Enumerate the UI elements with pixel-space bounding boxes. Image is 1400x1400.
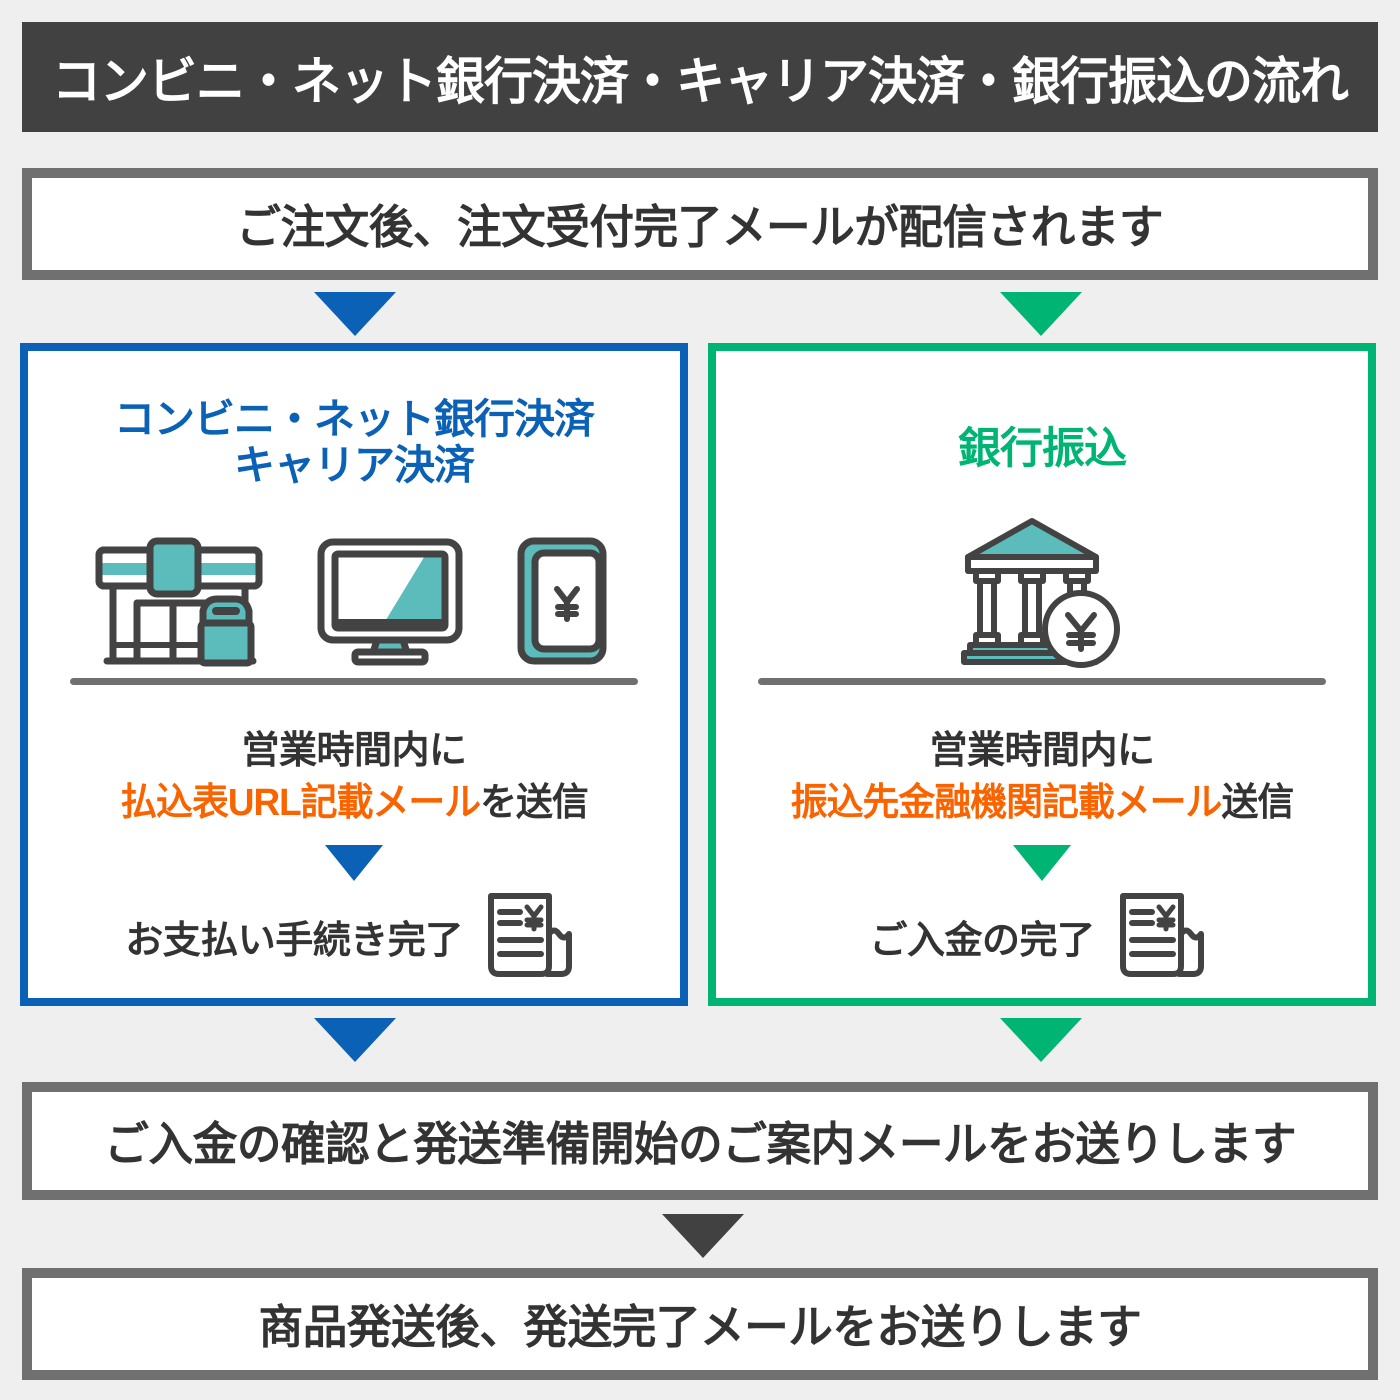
panel-bank-note-tail: 送信	[1221, 782, 1293, 824]
monitor-icon	[315, 536, 465, 666]
panel-cvs-note-line1: 営業時間内に	[28, 719, 680, 774]
panel-cvs-note-highlight: 払込表URL記載メール	[120, 782, 480, 824]
step-shipped-label: 商品発送後、発送完了メールをお送りします	[259, 1291, 1142, 1357]
panel-cvs-arrow-down-icon	[325, 845, 383, 881]
panel-bank-icon-row	[716, 511, 1368, 671]
arrow-down-green-to-bank-icon	[1000, 292, 1082, 336]
panel-cvs-note-line2: 払込表URL記載メールを送信	[38, 771, 670, 826]
panel-cvs-heading-line1: コンビニ・ネット銀行決済	[28, 397, 680, 443]
step-order-confirmation-box: ご注文後、注文受付完了メールが配信されます	[22, 168, 1378, 280]
step-order-confirmation-label: ご注文後、注文受付完了メールが配信されます	[237, 191, 1164, 257]
step-shipped-box: 商品発送後、発送完了メールをお送りします	[22, 1268, 1378, 1380]
arrow-down-blue-to-cvs-icon	[314, 292, 396, 336]
panel-bank-note-line1: 営業時間内に	[716, 719, 1368, 774]
panel-cvs-note-tail: を送信	[480, 782, 588, 824]
step-payment-confirmed-box: ご入金の確認と発送準備開始のご案内メールをお送りします	[22, 1082, 1378, 1200]
panel-cvs-heading-line2: キャリア決済	[28, 443, 680, 489]
panel-bank-heading-line1: 銀行振込	[716, 425, 1368, 473]
convenience-store-icon	[93, 535, 265, 667]
panel-cvs-icon-row	[28, 536, 680, 666]
panel-bank-note-line2: 振込先金融機関記載メール送信	[726, 771, 1358, 826]
step-payment-confirmed-label: ご入金の確認と発送準備開始のご案内メールをお送りします	[104, 1108, 1296, 1174]
panel-cvs-result-label: お支払い手続き完了	[125, 909, 463, 964]
invoice-yen-icon	[1111, 890, 1215, 982]
page-title: コンビニ・ネット銀行決済・キャリア決済・銀行振込の流れ	[52, 40, 1348, 114]
panel-cvs-heading: コンビニ・ネット銀行決済 キャリア決済	[28, 397, 680, 489]
panel-cvs-divider	[70, 678, 638, 685]
panel-bank-result-row: ご入金の完了	[716, 891, 1368, 981]
payment-flow-diagram: コンビニ・ネット銀行決済・キャリア決済・銀行振込の流れ ご注文後、注文受付完了メ…	[0, 0, 1400, 1400]
panel-cvs-result-row: お支払い手続き完了	[28, 891, 680, 981]
panel-convenience-store-payment: コンビニ・ネット銀行決済 キャリア決済	[20, 343, 688, 1006]
panel-bank-transfer-payment: 銀行振込	[708, 343, 1376, 1006]
arrow-down-green-to-confirm-icon	[1000, 1018, 1082, 1062]
bank-building-yen-icon	[956, 513, 1128, 669]
diagram-title-bar: コンビニ・ネット銀行決済・キャリア決済・銀行振込の流れ	[22, 22, 1378, 132]
panel-bank-arrow-down-icon	[1013, 845, 1071, 881]
panel-bank-result-label: ご入金の完了	[869, 909, 1094, 964]
panel-bank-note-highlight: 振込先金融機関記載メール	[791, 782, 1222, 824]
arrow-down-dark-to-ship-icon	[662, 1214, 744, 1258]
invoice-yen-icon	[479, 890, 583, 982]
arrow-down-blue-to-confirm-icon	[314, 1018, 396, 1062]
panel-bank-divider	[758, 678, 1326, 685]
panel-bank-heading: 銀行振込	[716, 425, 1368, 473]
smartphone-yen-icon	[515, 535, 615, 667]
